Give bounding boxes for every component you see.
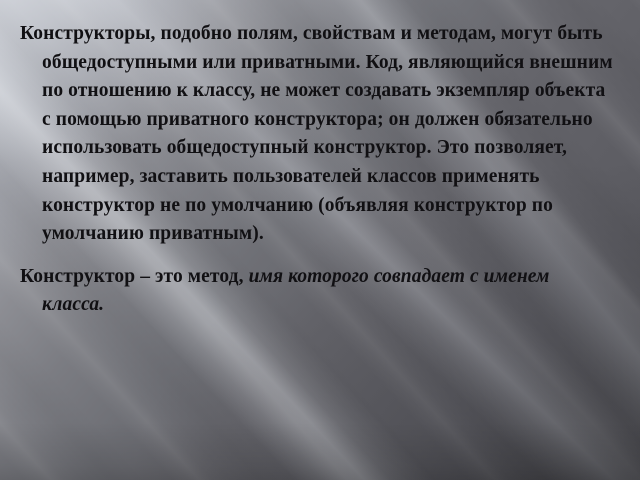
body-paragraph-2: Конструктор – это метод, имя которого со… bbox=[0, 249, 640, 320]
paragraph-1-run-1: Конструкторы, подобно полям, свойствам и… bbox=[20, 23, 613, 244]
paragraph-2-run-1: Конструктор – это метод, bbox=[20, 266, 249, 287]
body-paragraph-1: Конструкторы, подобно полям, свойствам и… bbox=[0, 0, 640, 249]
slide-body-text: Конструкторы, подобно полям, свойствам и… bbox=[0, 0, 640, 320]
presentation-slide: Конструкторы, подобно полям, свойствам и… bbox=[0, 0, 640, 480]
